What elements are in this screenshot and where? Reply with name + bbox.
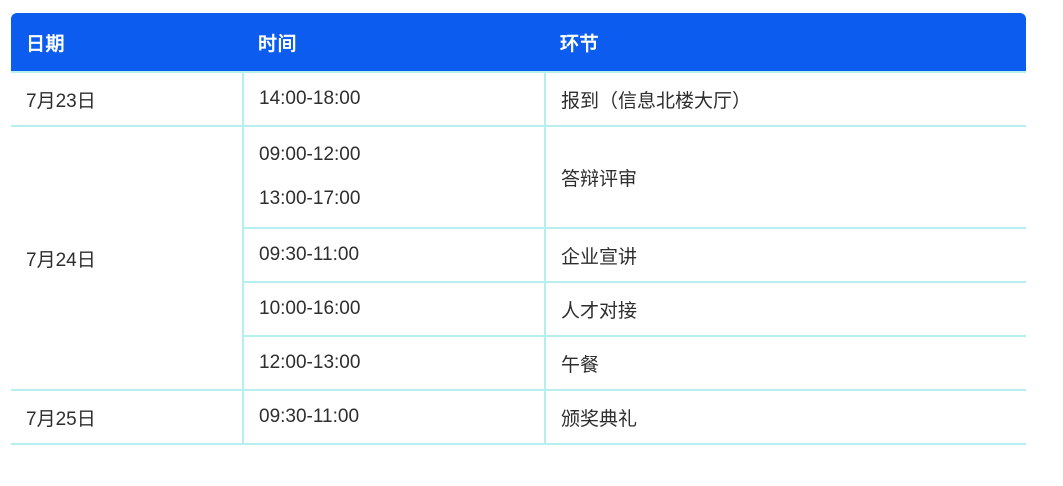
time-value: 14:00-18:00 (259, 77, 544, 121)
cell-date: 7月25日 (11, 390, 243, 444)
cell-time: 14:00-18:00 (243, 72, 545, 126)
table-row: 7月24日 09:00-12:00 13:00-17:00 答辩评审 (11, 126, 1026, 228)
column-header-date: 日期 (11, 13, 243, 72)
time-value: 13:00-17:00 (259, 177, 544, 221)
cell-step: 答辩评审 (545, 126, 1026, 228)
table-row: 7月25日 09:30-11:00 颁奖典礼 (11, 390, 1026, 444)
column-header-time: 时间 (243, 13, 545, 72)
time-value: 09:00-12:00 (259, 133, 544, 177)
schedule-table: 日期 时间 环节 7月23日 14:00-18:00 报到（信息北楼大厅） 7月… (11, 13, 1026, 445)
time-value: 12:00-13:00 (259, 341, 544, 385)
cell-time: 12:00-13:00 (243, 336, 545, 390)
cell-date: 7月23日 (11, 72, 243, 126)
time-value: 09:30-11:00 (259, 233, 544, 277)
cell-step: 颁奖典礼 (545, 390, 1026, 444)
cell-time: 09:30-11:00 (243, 390, 545, 444)
time-value: 09:30-11:00 (259, 395, 544, 439)
table-body: 7月23日 14:00-18:00 报到（信息北楼大厅） 7月24日 09:00… (11, 72, 1026, 444)
schedule-page: 日期 时间 环节 7月23日 14:00-18:00 报到（信息北楼大厅） 7月… (0, 0, 1063, 486)
cell-step: 午餐 (545, 336, 1026, 390)
cell-date: 7月24日 (11, 126, 243, 390)
cell-time: 10:00-16:00 (243, 282, 545, 336)
cell-step: 企业宣讲 (545, 228, 1026, 282)
cell-step: 人才对接 (545, 282, 1026, 336)
cell-time: 09:30-11:00 (243, 228, 545, 282)
column-header-step: 环节 (545, 13, 1026, 72)
header-row: 日期 时间 环节 (11, 13, 1026, 72)
table-row: 7月23日 14:00-18:00 报到（信息北楼大厅） (11, 72, 1026, 126)
table-header: 日期 时间 环节 (11, 13, 1026, 72)
time-value: 10:00-16:00 (259, 287, 544, 331)
cell-step: 报到（信息北楼大厅） (545, 72, 1026, 126)
cell-time: 09:00-12:00 13:00-17:00 (243, 126, 545, 228)
